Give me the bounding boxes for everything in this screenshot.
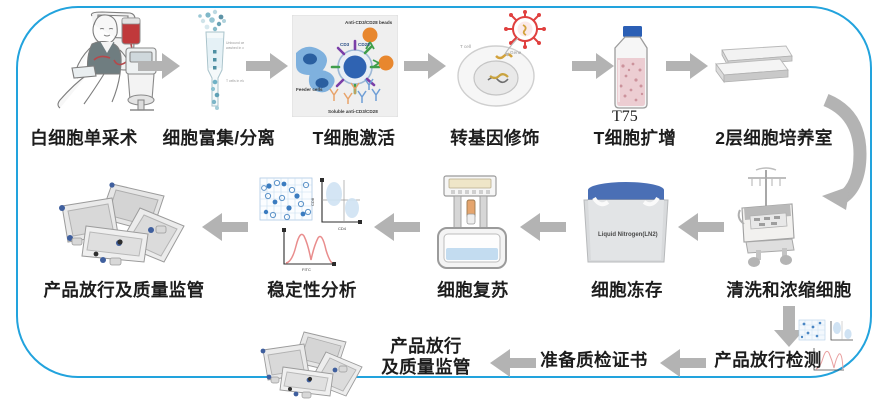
svg-text:Gene: Gene bbox=[510, 50, 522, 55]
arrow-left-1 bbox=[202, 212, 248, 242]
svg-text:Anti-CD3/CD28 beads: Anti-CD3/CD28 beads bbox=[345, 20, 393, 25]
step-label-cryopreservation: 细胞冻存 bbox=[572, 280, 682, 301]
step-label-cell-thawing: 细胞复苏 bbox=[418, 280, 528, 301]
arrow-left-row3-2 bbox=[660, 348, 706, 378]
step-label-stability-analysis: 稳定性分析 bbox=[248, 280, 376, 301]
step-label-product-release-qc: 产品放行及质量监管 bbox=[16, 280, 232, 301]
arrow-right-4 bbox=[572, 52, 614, 80]
column-separation-icon: Unbound cells washed in column T cells i… bbox=[186, 8, 244, 114]
arrow-left-2 bbox=[374, 212, 420, 242]
svg-text:CD8: CD8 bbox=[310, 197, 315, 206]
step-label-t-cell-activation: T细胞激活 bbox=[292, 128, 416, 149]
step-label-wash-concentrate: 清洗和浓缩细胞 bbox=[700, 280, 878, 301]
svg-text:Feeder cells: Feeder cells bbox=[296, 87, 323, 92]
flask-size-label: T75 bbox=[612, 108, 638, 126]
svg-text:Unbound cells: Unbound cells bbox=[226, 41, 244, 45]
svg-text:T cells in eluate: T cells in eluate bbox=[226, 79, 244, 83]
step-label-leukapheresis: 白细胞单采术 bbox=[14, 128, 154, 149]
step-label-release-testing: 产品放行检测 bbox=[706, 350, 830, 371]
svg-text:FITC: FITC bbox=[302, 267, 311, 272]
t-cell-activation-icon: Anti-CD3/CD28 beads CD3 CD28 Feeder cell… bbox=[292, 15, 398, 117]
cryo-bags-icon bbox=[56, 182, 191, 268]
arrow-right-5 bbox=[666, 52, 708, 80]
svg-text:CD3: CD3 bbox=[340, 42, 350, 47]
arrow-left-row3-1 bbox=[490, 348, 536, 378]
viral-transduction-icon: T cell Gene bbox=[448, 10, 566, 114]
step-label-product-release-qc-2: 产品放行 及质量监管 bbox=[370, 336, 482, 378]
svg-text:T cell: T cell bbox=[460, 44, 471, 49]
svg-text:CD4: CD4 bbox=[338, 226, 347, 231]
arrow-right-1 bbox=[138, 52, 180, 80]
ln2-tank-icon: Liquid Nitrogen(LN2) bbox=[572, 180, 680, 270]
step-label-t-cell-expansion: T细胞扩增 bbox=[570, 128, 700, 149]
thawing-device-icon bbox=[430, 174, 514, 272]
arrow-right-3 bbox=[404, 52, 446, 80]
workflow-diagram: Unbound cells washed in column T cells i… bbox=[0, 0, 888, 403]
svg-text:washed in column: washed in column bbox=[226, 46, 244, 50]
step-label-two-layer-chamber: 2层细胞培养室 bbox=[694, 128, 854, 149]
arrow-left-3 bbox=[520, 212, 566, 242]
flow-cytometry-icon: CD8 CD4 FITC bbox=[258, 174, 362, 272]
step-label-qc-certificate: 准备质检证书 bbox=[534, 350, 654, 371]
arrow-curve-row1-row2 bbox=[802, 92, 872, 216]
cell-processor-icon bbox=[726, 166, 802, 272]
step-label-cell-enrichment: 细胞富集/分离 bbox=[146, 128, 292, 149]
cell-stack-icon bbox=[708, 44, 794, 90]
svg-text:Soluble anti-CD3/CD28: Soluble anti-CD3/CD28 bbox=[328, 109, 378, 114]
arrow-left-4 bbox=[678, 212, 724, 242]
step-label-gene-modification: 转基因修饰 bbox=[430, 128, 560, 149]
svg-text:Liquid Nitrogen(LN2): Liquid Nitrogen(LN2) bbox=[598, 232, 658, 238]
svg-text:CD28: CD28 bbox=[358, 42, 370, 47]
arrow-right-2 bbox=[246, 52, 288, 80]
cryo-bags-icon-small bbox=[258, 330, 368, 400]
